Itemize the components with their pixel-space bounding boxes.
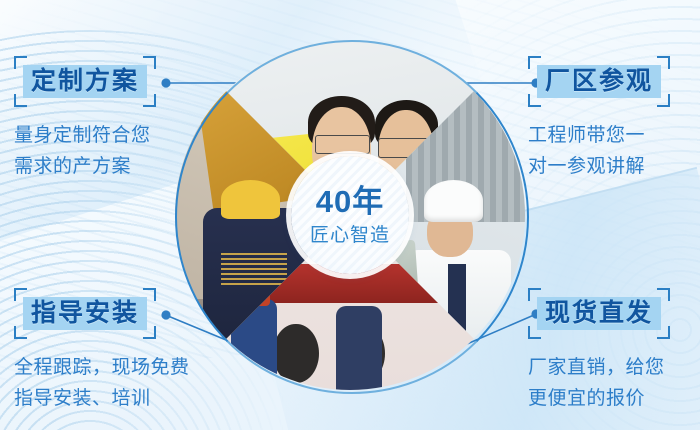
feature-title-badge: 厂区参观 — [528, 56, 670, 107]
bracket-corner-icon — [657, 94, 670, 107]
bracket-corner-icon — [14, 326, 27, 339]
infographic-banner: 40年 匠心智造 定制方案 量身定制符合您 需求的产方案 厂区参观 — [0, 0, 700, 430]
description-line: 对一参观讲解 — [528, 152, 670, 183]
feature-title: 厂区参观 — [533, 62, 665, 101]
feature-title: 现货直发 — [533, 294, 665, 333]
feature-in-stock-shipping[interactable]: 现货直发 厂家直销，给您 更便宜的报价 — [528, 288, 670, 415]
feature-title: 指导安装 — [19, 294, 151, 333]
feature-description: 厂家直销，给您 更便宜的报价 — [528, 353, 670, 415]
bracket-corner-icon — [143, 326, 156, 339]
bracket-corner-icon — [657, 56, 670, 69]
bracket-corner-icon — [657, 326, 670, 339]
connector-dot-top-left — [161, 78, 170, 87]
feature-title-badge: 定制方案 — [14, 56, 156, 107]
circular-photo-montage: 40年 匠心智造 — [175, 40, 525, 390]
feature-factory-tour[interactable]: 厂区参观 工程师带您一 对一参观讲解 — [528, 56, 670, 183]
description-line: 更便宜的报价 — [528, 384, 670, 415]
bracket-corner-icon — [143, 94, 156, 107]
feature-custom-solution[interactable]: 定制方案 量身定制符合您 需求的产方案 — [14, 56, 156, 183]
feature-installation-guidance[interactable]: 指导安装 全程跟踪，现场免费 指导安装、培训 — [14, 288, 190, 415]
bracket-corner-icon — [14, 288, 27, 301]
bracket-corner-icon — [528, 326, 541, 339]
bracket-corner-icon — [528, 56, 541, 69]
description-line: 量身定制符合您 — [14, 121, 156, 152]
center-headline: 40年 — [316, 186, 384, 217]
description-line: 指导安装、培训 — [14, 384, 190, 415]
center-badge: 40年 匠心智造 — [291, 156, 409, 274]
bracket-corner-icon — [528, 94, 541, 107]
feature-title-badge: 指导安装 — [14, 288, 156, 339]
feature-title-badge: 现货直发 — [528, 288, 670, 339]
bracket-corner-icon — [657, 288, 670, 301]
bracket-corner-icon — [143, 56, 156, 69]
description-line: 厂家直销，给您 — [528, 353, 670, 384]
feature-title: 定制方案 — [19, 62, 151, 101]
feature-description: 量身定制符合您 需求的产方案 — [14, 121, 156, 183]
feature-description: 全程跟踪，现场免费 指导安装、培训 — [14, 353, 190, 415]
bracket-corner-icon — [528, 288, 541, 301]
bracket-corner-icon — [143, 288, 156, 301]
feature-description: 工程师带您一 对一参观讲解 — [528, 121, 670, 183]
bracket-corner-icon — [14, 94, 27, 107]
description-line: 工程师带您一 — [528, 121, 670, 152]
center-subline: 匠心智造 — [310, 226, 390, 245]
bracket-corner-icon — [14, 56, 27, 69]
description-line: 需求的产方案 — [14, 152, 156, 183]
description-line: 全程跟踪，现场免费 — [14, 353, 190, 384]
